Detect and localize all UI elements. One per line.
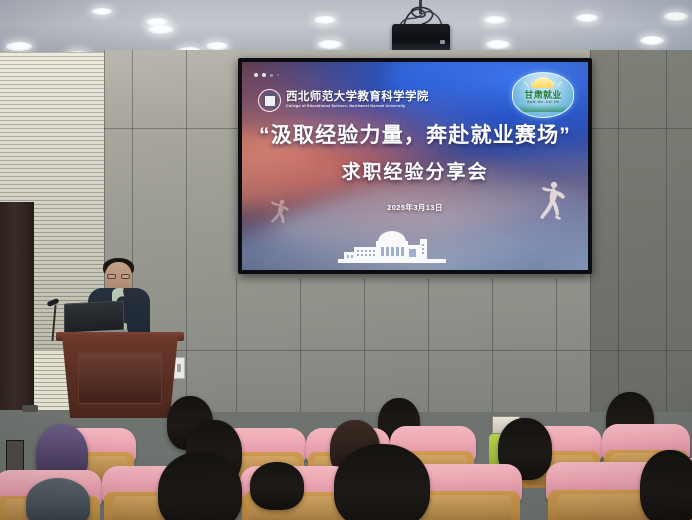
recessed-ceiling-light — [6, 42, 32, 51]
recessed-ceiling-light — [664, 12, 688, 21]
audience-head — [250, 462, 304, 510]
presenter-glasses — [107, 274, 130, 279]
projection-screen: 西北师范大学教育科学学院 College of Educational Scie… — [238, 58, 592, 274]
audience-head — [26, 478, 90, 520]
recessed-ceiling-light — [484, 16, 506, 24]
university-name-block: 西北师范大学教育科学学院 College of Educational Scie… — [286, 92, 429, 109]
university-name-en: College of Educational Science, Northwes… — [286, 105, 429, 109]
slide-surface: 西北师范大学教育科学学院 College of Educational Scie… — [242, 62, 588, 270]
university-logo: 西北师范大学教育科学学院 College of Educational Scie… — [258, 89, 429, 112]
wall-seam — [666, 50, 667, 412]
badge-label-sub: GAN SU JIU YE — [513, 100, 573, 104]
running-figure-silhouette — [268, 198, 290, 224]
recessed-ceiling-light — [318, 40, 342, 49]
recessed-ceiling-light — [486, 40, 510, 49]
slide-date: 2025年3月13日 — [242, 202, 588, 213]
wall-seam — [364, 278, 365, 412]
wall-seam — [104, 350, 692, 351]
wall-vent — [22, 405, 38, 412]
running-figure-silhouette — [538, 180, 566, 222]
wall-seam — [186, 50, 187, 412]
audience-head — [158, 452, 242, 520]
wall-seam — [556, 278, 557, 412]
recessed-ceiling-light — [576, 14, 598, 22]
recessed-ceiling-light — [206, 42, 228, 50]
recessed-ceiling-light — [314, 16, 336, 24]
projector-mount-cables — [398, 4, 444, 26]
slide-title: “汲取经验力量，奔赴就业赛场” — [242, 119, 588, 149]
university-seal-icon — [258, 89, 281, 112]
wall-seam — [428, 278, 429, 412]
grey-panel-wall-right — [590, 50, 692, 412]
audience-head — [334, 444, 430, 520]
side-door[interactable] — [0, 202, 34, 410]
wall-seam — [236, 278, 237, 412]
lecture-hall-photo: 西北师范大学教育科学学院 College of Educational Scie… — [0, 0, 692, 520]
campus-building-silhouette — [338, 228, 446, 264]
recessed-ceiling-light — [92, 8, 112, 15]
sunrise-badge-icon: 甘肃就业 GAN SU JIU YE — [512, 72, 574, 118]
slide-subtitle: 求职经验分享会 — [242, 157, 588, 184]
audience-head — [640, 450, 692, 520]
slide-corner-dots — [254, 73, 279, 77]
university-name-cn: 西北师范大学教育科学学院 — [286, 92, 429, 104]
badge-wave — [519, 105, 567, 112]
wall-seam — [492, 278, 493, 412]
podium-front-panel — [78, 352, 162, 404]
wall-seam — [618, 50, 619, 412]
recessed-ceiling-light — [640, 36, 664, 45]
recessed-ceiling-light — [148, 25, 174, 34]
wall-seam — [300, 278, 301, 412]
